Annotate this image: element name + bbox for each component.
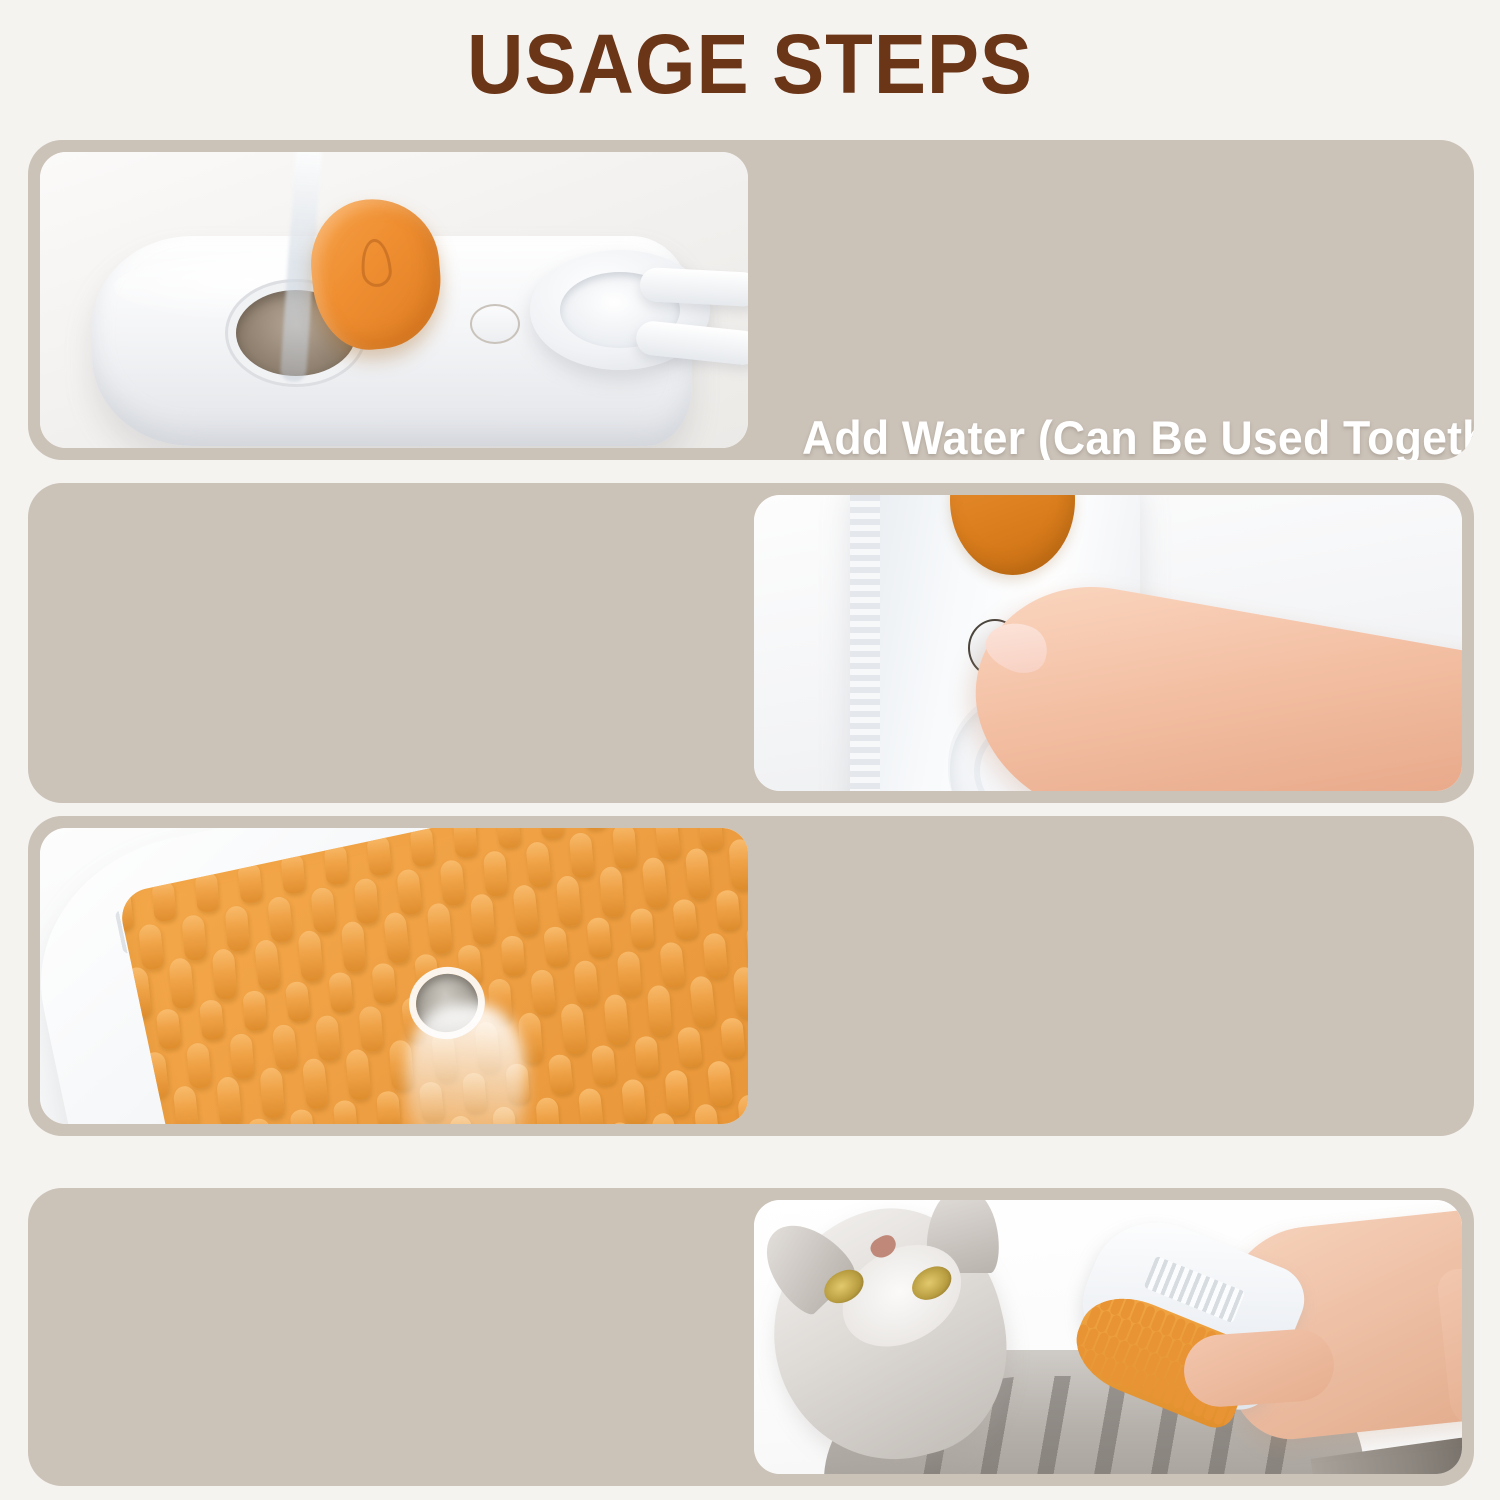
bristle-icon — [229, 1033, 254, 1079]
bristle-icon — [372, 963, 397, 1004]
bristle-icon — [539, 828, 564, 840]
bristle-icon — [698, 828, 724, 851]
bristle-icon — [280, 853, 305, 894]
bristle-icon — [483, 850, 508, 896]
bristle-icon — [543, 926, 569, 968]
bristle-icon — [599, 866, 624, 918]
bristle-icon — [247, 1118, 272, 1124]
bristle-icon — [495, 828, 521, 849]
bristle-icon — [685, 848, 711, 900]
bristle-icon — [354, 878, 379, 924]
bristle-icon — [324, 844, 349, 885]
bristle-icon — [677, 1026, 703, 1068]
bristle-icon — [737, 1094, 748, 1124]
bristle-icon — [297, 930, 323, 982]
bristle-icon — [733, 966, 748, 1018]
bristle-icon — [427, 902, 453, 954]
bristle-icon — [138, 923, 165, 970]
bristle-icon — [237, 862, 263, 904]
mist-plume-icon — [406, 1004, 526, 1124]
bristle-icon — [720, 1017, 745, 1058]
bristle-icon — [641, 857, 668, 909]
orange-flip-cap-icon — [950, 495, 1075, 575]
bristle-icon — [376, 1091, 401, 1124]
step-panel-3: Wait For The Mist To Appear (Within 2 Se… — [28, 816, 1474, 1136]
bristle-icon — [530, 969, 557, 1016]
bristle-icon — [341, 921, 366, 973]
bristle-icon — [634, 1036, 659, 1077]
bristle-icon — [728, 839, 748, 891]
usage-steps-infographic: USAGE STEPS Add Water (Can Be Used Toget… — [0, 0, 1500, 1500]
bristle-icon — [242, 990, 267, 1031]
bristle-icon — [396, 868, 423, 915]
bristle-icon — [525, 841, 552, 888]
bristle-icon — [289, 1109, 315, 1124]
bristle-icon — [383, 911, 410, 963]
bristle-icon — [501, 935, 526, 976]
step-panel-1: Add Water (Can Be Used Together With Var… — [28, 140, 1474, 460]
caption-line: Add Water (Can Be Used Together — [802, 408, 1474, 460]
bristle-icon — [573, 960, 599, 1007]
step-3-image — [40, 828, 748, 1124]
page-title: USAGE STEPS — [53, 22, 1448, 106]
bristle-icon — [512, 884, 539, 936]
step-panel-4: Start Enjoying The Pleasant Experience O… — [28, 1188, 1474, 1486]
bristle-icon — [603, 994, 629, 1046]
bristle-icon — [212, 948, 237, 1000]
bristle-icon — [285, 981, 311, 1023]
step-4-image — [754, 1200, 1462, 1474]
device-handle-upper-icon — [639, 267, 748, 307]
bristle-icon — [440, 859, 466, 906]
bristle-icon — [260, 1067, 285, 1119]
bristle-icon — [659, 941, 686, 988]
bristle-icon — [689, 975, 716, 1027]
bristle-icon — [578, 1088, 605, 1124]
bristle-icon — [672, 898, 698, 940]
bristle-icon — [173, 1085, 200, 1124]
human-fingers-icon — [1182, 1327, 1337, 1409]
water-drop-icon — [359, 238, 393, 288]
bristle-icon — [359, 1006, 384, 1052]
step-1-caption: Add Water (Can Be Used Together With Var… — [802, 408, 1474, 460]
bristle-icon — [617, 951, 642, 997]
bristle-icon — [302, 1058, 329, 1110]
bristle-icon — [225, 905, 250, 951]
bristle-icon — [315, 1015, 341, 1062]
bristle-icon — [151, 880, 176, 921]
step-1-image — [40, 152, 748, 448]
bristle-icon — [556, 875, 582, 927]
bristle-icon — [569, 832, 595, 879]
bristle-icon — [647, 985, 672, 1037]
bristle-icon — [548, 1054, 574, 1096]
bristle-icon — [333, 1100, 358, 1124]
bristle-icon — [272, 1024, 299, 1071]
bristle-icon — [630, 908, 655, 949]
bristle-icon — [181, 914, 207, 961]
bristle-icon — [560, 1003, 587, 1055]
bristle-icon — [694, 1103, 721, 1124]
bristle-icon — [328, 972, 353, 1013]
bristle-icon — [366, 835, 392, 877]
bristle-icon — [345, 1049, 371, 1101]
step-2-image — [754, 495, 1462, 791]
bristle-icon — [453, 828, 478, 858]
bristle-icon — [716, 889, 741, 930]
device-grip-ridges-icon — [850, 495, 880, 791]
bristle-icon — [470, 894, 495, 946]
bristle-icon — [654, 828, 681, 861]
bristle-icon — [702, 932, 728, 979]
bristle-icon — [707, 1060, 734, 1107]
bristle-icon — [186, 1042, 212, 1089]
bristle-icon — [310, 887, 336, 934]
bristle-icon — [621, 1079, 647, 1124]
bristle-icon — [410, 828, 435, 867]
power-button-icon — [470, 304, 520, 344]
bristle-icon — [156, 1008, 182, 1050]
bristle-icon — [591, 1045, 616, 1086]
bristle-icon — [582, 828, 607, 830]
bristle-icon — [535, 1097, 560, 1124]
bristle-icon — [612, 828, 637, 869]
bristle-icon — [199, 999, 224, 1040]
step-panel-2: Press The Button For One-Touch Start — [28, 483, 1474, 803]
bristle-icon — [665, 1070, 690, 1116]
bristle-icon — [254, 939, 281, 991]
bristle-icon — [267, 896, 294, 943]
bristle-icon — [168, 957, 194, 1009]
bristle-icon — [195, 871, 220, 912]
bristle-icon — [746, 923, 748, 969]
bristle-icon — [586, 917, 611, 958]
bristle-icon — [216, 1076, 242, 1124]
